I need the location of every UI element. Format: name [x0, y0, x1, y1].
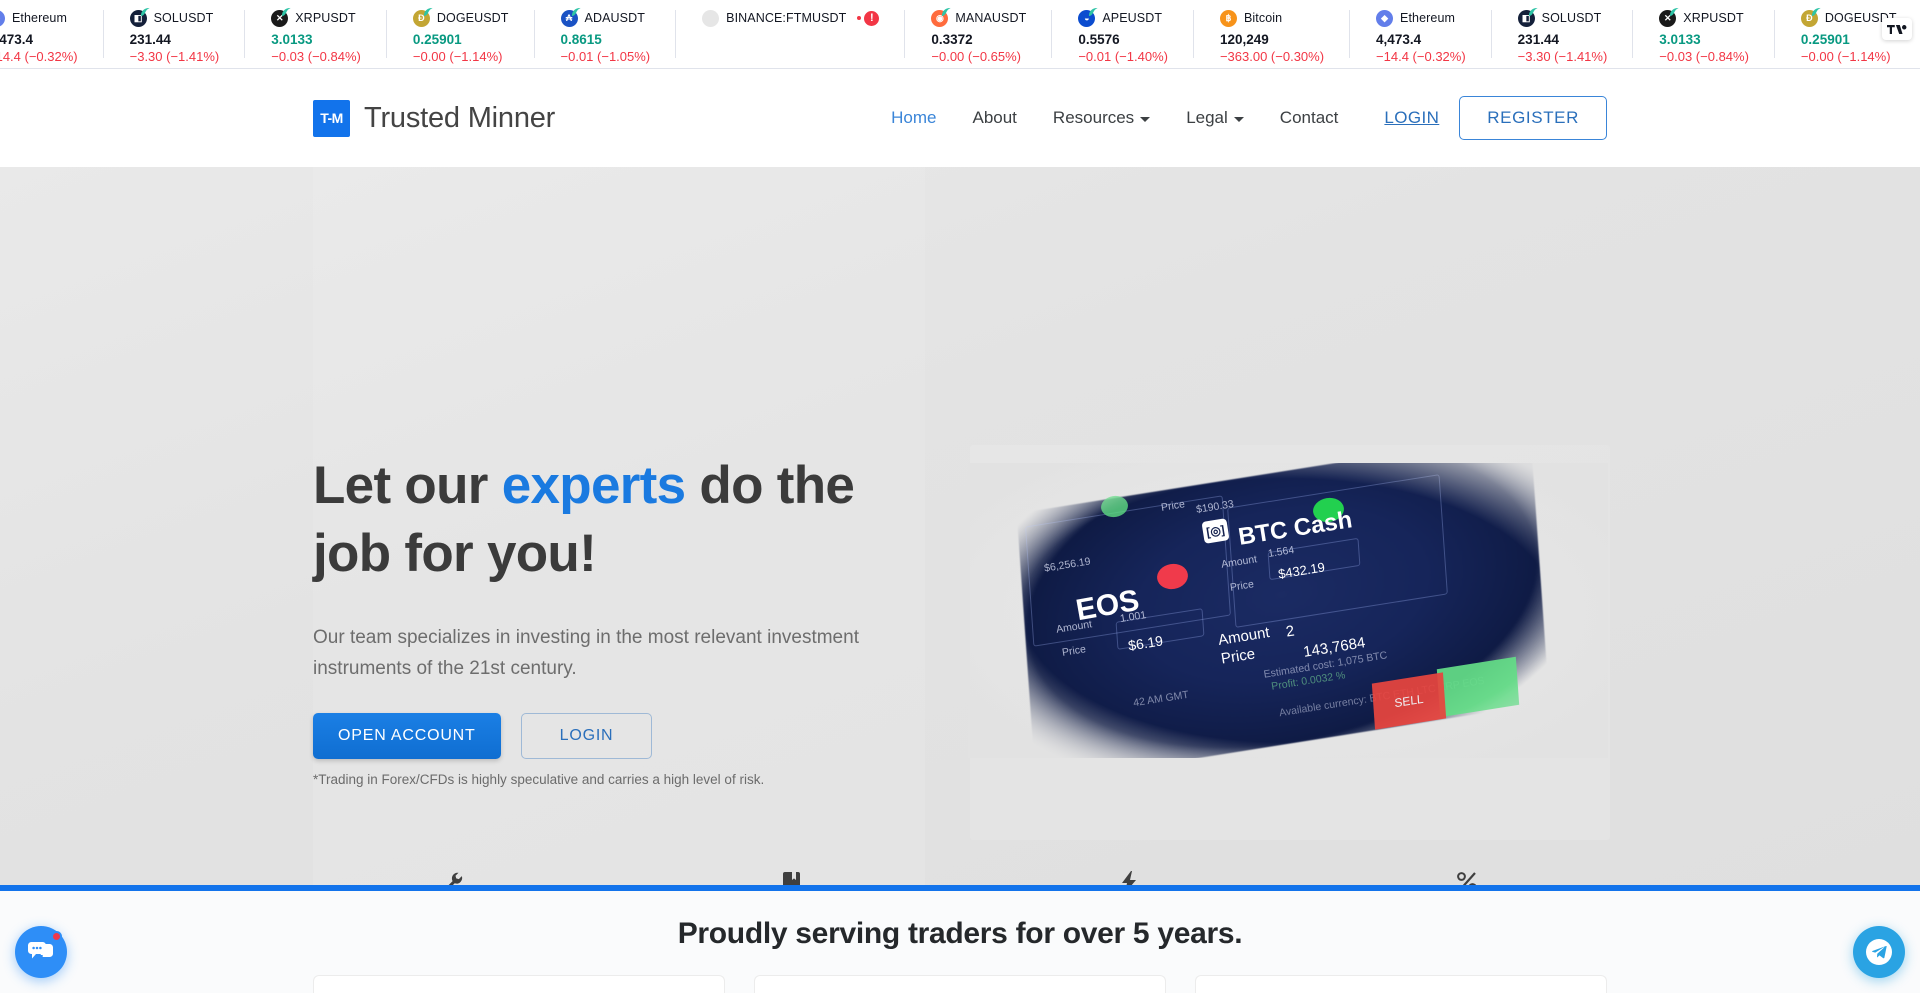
ticker-symbol: Ethereum	[1400, 11, 1455, 25]
ticker-item[interactable]: ◧SOLUSDT231.44−3.30 (−1.41%)	[104, 0, 246, 68]
ticker-symbol: XRPUSDT	[295, 11, 355, 25]
ticker-item[interactable]: ƉDOGEUSDT0.25901−0.00 (−1.14%)	[387, 0, 535, 68]
ticker-item[interactable]: ₳ADAUSDT0.8615−0.01 (−1.05%)	[535, 0, 677, 68]
ticker-change: −0.03 (−0.84%)	[1659, 49, 1749, 64]
ticker-track[interactable]: ◆Ethereum4,473.4−14.4 (−0.32%)◧SOLUSDT23…	[0, 0, 1920, 68]
ticker-change: −0.00 (−0.65%)	[931, 49, 1021, 64]
hero-content: Let our experts do the job for you! Our …	[313, 167, 1613, 887]
testimonial-cards-row	[313, 975, 1607, 993]
feature-fast-execution: FAST EXECUTION	[989, 867, 1269, 891]
testimonial-card[interactable]	[1195, 975, 1607, 993]
hero-artwork: [◎] EOS BTC Cash $6,256.19 $190.33 Price…	[968, 463, 1608, 758]
ticker-header: ₳ADAUSDT	[561, 9, 645, 27]
placeholder-icon	[702, 10, 719, 27]
telegram-widget-button[interactable]	[1853, 926, 1905, 978]
ticker-change: −14.4 (−0.32%)	[0, 49, 78, 64]
hero-title-part1: Let our	[313, 456, 502, 515]
ticker-change: −14.4 (−0.32%)	[1376, 49, 1466, 64]
ticker-symbol: SOLUSDT	[1542, 11, 1602, 25]
ticker-item[interactable]: ◆Ethereum4,473.4−14.4 (−0.32%)	[0, 0, 104, 68]
ticker-symbol: DOGEUSDT	[437, 11, 509, 25]
login-link[interactable]: LOGIN	[1356, 108, 1459, 128]
hero-login-button[interactable]: LOGIN	[521, 713, 653, 759]
bitcoin-cash-icon: [◎]	[1201, 518, 1229, 544]
hero-disclaimer: *Trading in Forex/CFDs is highly specula…	[313, 772, 764, 787]
chat-unread-badge	[51, 931, 62, 942]
ticker-symbol: APEUSDT	[1102, 11, 1162, 25]
ticker-header: ◉MANAUSDT	[931, 9, 1026, 27]
feature-zero-commission: 0% COMMISSION	[1327, 867, 1607, 891]
ticker-price: 0.25901	[413, 32, 462, 47]
ticker-header: ◒APEUSDT	[1078, 9, 1162, 27]
brand-mark-icon: T-M	[313, 100, 350, 137]
nav-link-resources-label: Resources	[1053, 108, 1134, 128]
ticker-price: 3.0133	[271, 32, 312, 47]
ticker-item[interactable]: ◉MANAUSDT0.3372−0.00 (−0.65%)	[905, 0, 1052, 68]
ticker-price: 4,473.4	[1376, 32, 1421, 47]
nav-link-home[interactable]: Home	[873, 108, 954, 128]
art-sell-button: SELL	[1372, 672, 1446, 729]
nav-link-legal-label: Legal	[1186, 108, 1228, 128]
ticker-header: ✕XRPUSDT	[271, 9, 355, 27]
bitcoin-icon: ฿	[1220, 10, 1237, 27]
ticker-header: ◧SOLUSDT	[1518, 9, 1602, 27]
testimonial-card[interactable]	[313, 975, 725, 993]
feature-enhanced-tools: ENHANCED TOOLS	[313, 867, 593, 891]
ticker-symbol: BINANCE:FTMUSDT	[726, 11, 846, 25]
ticker-header: BINANCE:FTMUSDT!	[702, 9, 879, 27]
ticker-change: −0.00 (−1.14%)	[413, 49, 503, 64]
ticker-symbol: Bitcoin	[1244, 11, 1282, 25]
xrp-icon: ✕	[271, 10, 288, 27]
nav-link-about[interactable]: About	[954, 108, 1034, 128]
ticker-change: −0.00 (−1.14%)	[1801, 49, 1891, 64]
ticker-price: 0.3372	[931, 32, 972, 47]
solana-icon: ◧	[1518, 10, 1535, 27]
apecoin-icon: ◒	[1078, 10, 1095, 27]
solana-icon: ◧	[130, 10, 147, 27]
ticker-price: 0.25901	[1801, 32, 1850, 47]
testimonial-card[interactable]	[754, 975, 1166, 993]
alert-badge-icon: !	[864, 11, 879, 26]
cardano-icon: ₳	[561, 10, 578, 27]
hero-subtitle: Our team specializes in investing in the…	[313, 622, 873, 684]
ticker-header: ◆Ethereum	[1376, 9, 1455, 27]
chat-bubble-icon	[28, 940, 54, 964]
ticker-change: −3.30 (−1.41%)	[130, 49, 220, 64]
ticker-change: −3.30 (−1.41%)	[1518, 49, 1608, 64]
percent-icon	[1327, 867, 1607, 891]
telegram-icon	[1866, 939, 1892, 965]
ticker-item[interactable]: BINANCE:FTMUSDT!	[676, 0, 905, 68]
ticker-symbol: ADAUSDT	[585, 11, 645, 25]
dogecoin-icon: Ɖ	[1801, 10, 1818, 27]
testimonials-title: Proudly serving traders for over 5 years…	[0, 917, 1920, 951]
tradingview-logo-icon	[1887, 23, 1907, 36]
ticker-symbol: SOLUSDT	[154, 11, 214, 25]
ticker-item[interactable]: ฿Bitcoin120,249−363.00 (−0.30%)	[1194, 0, 1350, 68]
ticker-change: −0.01 (−1.05%)	[561, 49, 651, 64]
ticker-price: 120,249	[1220, 32, 1269, 47]
ticker-alert[interactable]: !	[857, 11, 879, 26]
ticker-symbol: Ethereum	[12, 11, 67, 25]
ticker-price: 0.8615	[561, 32, 602, 47]
ticker-header: ◧SOLUSDT	[130, 9, 214, 27]
feature-list: ENHANCED TOOLS TRADING GUIDES FAST EXECU…	[313, 867, 1607, 891]
feature-trading-guides: TRADING GUIDES	[651, 867, 931, 891]
ticker-item[interactable]: ◆Ethereum4,473.4−14.4 (−0.32%)	[1350, 0, 1492, 68]
ticker-change: −0.01 (−1.40%)	[1078, 49, 1168, 64]
ticker-price: 3.0133	[1659, 32, 1700, 47]
nav-link-about-label: About	[972, 108, 1016, 128]
nav-link-home-label: Home	[891, 108, 936, 128]
register-button[interactable]: REGISTER	[1459, 96, 1607, 140]
chevron-down-icon	[1234, 117, 1244, 122]
hero-cta-group: OPEN ACCOUNT LOGIN	[313, 713, 652, 759]
ticker-header: ƉDOGEUSDT	[413, 9, 509, 27]
tradingview-logo[interactable]	[1882, 18, 1912, 40]
ticker-price: 0.5576	[1078, 32, 1119, 47]
chevron-down-icon	[1140, 117, 1150, 122]
ticker-header: ฿Bitcoin	[1220, 9, 1282, 27]
nav-links: Home About Resources Legal Contact LOGIN…	[873, 96, 1607, 140]
brand-logo[interactable]: T-M Trusted Minner	[313, 100, 555, 137]
ticker-header: ✕XRPUSDT	[1659, 9, 1743, 27]
bolt-icon	[989, 867, 1269, 891]
decentraland-icon: ◉	[931, 10, 948, 27]
brand-title: Trusted Minner	[364, 102, 555, 135]
ticker-tape[interactable]: ◆Ethereum4,473.4−14.4 (−0.32%)◧SOLUSDT23…	[0, 0, 1920, 69]
ticker-price: 231.44	[130, 32, 171, 47]
ticker-price: 231.44	[1518, 32, 1559, 47]
hero-title: Let our experts do the job for you!	[313, 452, 903, 588]
ticker-symbol: MANAUSDT	[955, 11, 1026, 25]
xrp-icon: ✕	[1659, 10, 1676, 27]
book-icon	[651, 867, 931, 891]
ticker-item[interactable]: ◒APEUSDT0.5576−0.01 (−1.40%)	[1052, 0, 1194, 68]
open-account-button[interactable]: OPEN ACCOUNT	[313, 713, 501, 759]
nav-link-contact[interactable]: Contact	[1262, 108, 1357, 128]
hero-title-highlight: experts	[502, 456, 686, 515]
ticker-item[interactable]: ◧SOLUSDT231.44−3.30 (−1.41%)	[1492, 0, 1634, 68]
ethereum-icon: ◆	[0, 10, 5, 27]
ticker-symbol: XRPUSDT	[1683, 11, 1743, 25]
ticker-header: ◆Ethereum	[0, 9, 67, 27]
hero-section: Let our experts do the job for you! Our …	[0, 167, 1920, 891]
nav-link-legal[interactable]: Legal	[1168, 108, 1262, 128]
nav-link-contact-label: Contact	[1280, 108, 1339, 128]
chat-widget-button[interactable]	[15, 926, 67, 978]
ticker-item[interactable]: ✕XRPUSDT3.0133−0.03 (−0.84%)	[1633, 0, 1775, 68]
wrench-icon	[313, 867, 593, 891]
ticker-price: 4,473.4	[0, 32, 33, 47]
ethereum-icon: ◆	[1376, 10, 1393, 27]
ticker-change: −363.00 (−0.30%)	[1220, 49, 1324, 64]
nav-link-resources[interactable]: Resources	[1035, 108, 1168, 128]
main-navbar: T-M Trusted Minner Home About Resources …	[0, 69, 1920, 167]
alert-dot-icon	[857, 16, 861, 20]
ticker-change: −0.03 (−0.84%)	[271, 49, 361, 64]
ticker-item[interactable]: ✕XRPUSDT3.0133−0.03 (−0.84%)	[245, 0, 387, 68]
dogecoin-icon: Ɖ	[413, 10, 430, 27]
